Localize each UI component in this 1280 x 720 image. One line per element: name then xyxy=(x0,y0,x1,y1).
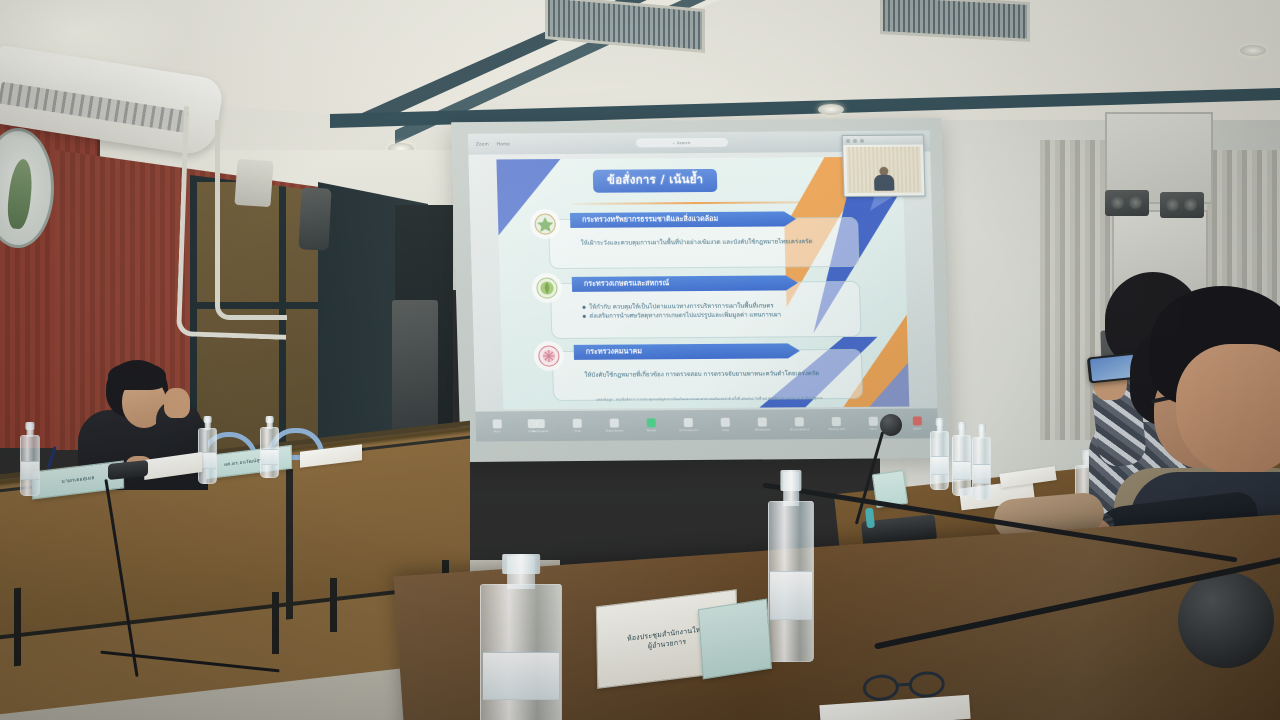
more-icon xyxy=(869,417,878,426)
section-bullet: ให้เฝ้าระวังและควบคุมการเผาในพื้นที่ป่าอ… xyxy=(581,237,813,248)
table-leg-1 xyxy=(14,588,21,667)
end-call-icon xyxy=(912,416,921,425)
zoom-search-placeholder: Search xyxy=(677,141,691,145)
zoom-brand-label: Zoom xyxy=(476,142,489,147)
slide-section-3: กระทรวงคมนาคม ให้บังคับใช้กฎหมายที่เกี่ย… xyxy=(528,343,862,345)
microphone-icon xyxy=(492,419,501,428)
section-bullet-3: ให้บังคับใช้กฎหมายที่เกี่ยวข้อง การตรวจส… xyxy=(584,369,819,380)
conference-room-photo: Zoom Home ⌕ Search View Recording Exit xyxy=(0,0,1280,720)
projection-screen[interactable]: Zoom Home ⌕ Search View Recording Exit xyxy=(468,130,939,441)
ministry-agriculture-emblem xyxy=(532,273,563,303)
ai-companion-icon xyxy=(684,418,693,427)
zoom-video-label: Video xyxy=(528,429,536,433)
zoom-mute-label: Mute xyxy=(494,429,501,433)
pip-titlebar[interactable] xyxy=(843,135,923,145)
water-bottle-4 xyxy=(930,420,949,490)
zoom-leave-button[interactable]: Leave xyxy=(904,416,930,430)
ministry-transport-emblem xyxy=(533,341,564,371)
corner-speaker xyxy=(298,187,331,250)
section-body: ให้เฝ้าระวังและควบคุมการเผาในพื้นที่ป่าอ… xyxy=(581,237,813,248)
video-icon xyxy=(527,419,536,428)
person-fringe xyxy=(108,362,166,390)
participant-video-window[interactable] xyxy=(842,134,926,197)
microphone-head-foreground xyxy=(1178,572,1274,668)
zoom-toolbar-left-group: Mute Video xyxy=(484,419,545,433)
zoom-search-box[interactable]: ⌕ Search xyxy=(636,138,728,148)
pip-speaker-figure xyxy=(873,167,896,191)
chat-icon xyxy=(573,419,582,428)
pip-video-feed xyxy=(846,147,921,193)
zoom-leave-label: Leave xyxy=(913,426,921,430)
wall-speaker-left xyxy=(1105,190,1149,216)
section-heading-label: กระทรวงทรัพยากรธรรมชาติและสิ่งแวดล้อม xyxy=(582,214,718,226)
zoom-whiteboard-label: Whiteboard xyxy=(755,428,771,432)
zoom-chat-label: Chat xyxy=(574,429,580,433)
zoom-apps-button[interactable]: Apps xyxy=(712,418,738,432)
ac-conduit-pipe-2 xyxy=(215,120,287,320)
water-bottle-3 xyxy=(260,418,279,478)
water-bottle-6 xyxy=(972,426,991,500)
zoom-chat-button[interactable]: Chat xyxy=(564,419,590,433)
floor-speaker-stack xyxy=(392,300,438,430)
close-icon[interactable] xyxy=(860,138,864,142)
zoom-ai-label: AI Companion xyxy=(679,428,698,432)
section-heading-chip-2: กระทรวงเกษตรและสหกรณ์ xyxy=(572,275,798,292)
zoom-record-label: Record xyxy=(647,428,656,432)
ceiling-downlight-4 xyxy=(1240,45,1266,56)
zoom-video-button[interactable]: Video xyxy=(519,419,545,433)
section-bullet-2b: ส่งเสริมการนำเศษวัสดุทางการเกษตรไปแปรรูป… xyxy=(589,311,781,321)
microphone-head-mid xyxy=(880,414,902,436)
zoom-more-label: More xyxy=(870,427,877,431)
share-screen-icon xyxy=(610,419,619,428)
section-heading-label-3: กระทรวงคมนาคม xyxy=(586,346,643,357)
section-heading-chip-3: กระทรวงคมนาคม xyxy=(574,343,800,360)
wall-speaker-right xyxy=(1160,192,1204,218)
zoom-share-screen-button[interactable]: Share Screen xyxy=(601,419,627,433)
zoom-share-label: Share Screen xyxy=(606,429,624,433)
info-icon xyxy=(832,417,841,426)
bullet-dot-icon xyxy=(583,306,586,309)
slide-section-2: กระทรวงเกษตรและสหกรณ์ ให้กำกับ ควบคุมให้… xyxy=(526,275,860,277)
apps-icon xyxy=(721,418,730,427)
section-heading-chip: กระทรวงทรัพยากรธรรมชาติและสิ่งแวดล้อม xyxy=(570,211,796,228)
zoom-record-button[interactable]: Record xyxy=(638,418,664,432)
ceiling-downlight-3 xyxy=(818,104,844,115)
section-body-3: ให้บังคับใช้กฎหมายที่เกี่ยวข้อง การตรวจส… xyxy=(584,369,819,380)
zoom-captions-label: Show captions xyxy=(790,427,810,431)
zoom-ai-companion-button[interactable]: AI Companion xyxy=(675,418,701,432)
person-hand xyxy=(164,388,190,418)
water-bottle xyxy=(20,424,40,496)
pen xyxy=(46,446,56,470)
slide-footer-source: แหล่งข้อมูล : สรุปข้อสั่งการ การประชุมกอ… xyxy=(555,396,863,403)
record-icon xyxy=(647,418,656,427)
zoom-home-label[interactable]: Home xyxy=(497,141,510,146)
slide-title-underline xyxy=(572,201,822,204)
section-heading-label-2: กระทรวงเกษตรและสหกรณ์ xyxy=(584,278,670,290)
zoom-application-window[interactable]: Zoom Home ⌕ Search View Recording Exit xyxy=(468,130,939,441)
notes-icon xyxy=(795,417,804,426)
ministry-natural-resources-emblem xyxy=(530,209,561,239)
zoom-apps-label: Apps xyxy=(722,428,729,432)
table-leg-3 xyxy=(330,578,337,632)
water-bottle-foreground-1 xyxy=(768,472,814,662)
zoom-captions-button[interactable]: Show captions xyxy=(786,417,812,431)
zoom-meeting-info-button[interactable]: Meeting info xyxy=(823,417,849,431)
table-leg-2 xyxy=(272,592,279,654)
water-bottle-foreground-2 xyxy=(480,556,562,720)
pip-maximize-icon[interactable] xyxy=(853,138,857,142)
section-bullet-row-2: ส่งเสริมการนำเศษวัสดุทางการเกษตรไปแปรรูป… xyxy=(583,311,781,322)
zoom-mute-button[interactable]: Mute xyxy=(484,419,510,433)
search-icon: ⌕ xyxy=(673,141,675,145)
bullet-dot-icon-2 xyxy=(583,315,586,318)
whiteboard-icon xyxy=(758,418,767,427)
nameplate-foreground-back xyxy=(698,598,772,679)
projector-mount xyxy=(234,159,273,207)
slide-title: ข้อสั่งการ / เน้นย้ำ xyxy=(593,169,718,193)
section-body-2: ให้กำกับ ควบคุมให้เป็นไปตามแนวทางการบริห… xyxy=(582,301,781,321)
nameplate-foreground-text: ห้องประชุมสำนักงานใหญ่ ผู้อำนวยการ xyxy=(627,624,707,655)
zoom-bottom-toolbar[interactable]: Mute Video Participants Chat xyxy=(475,408,938,441)
pip-minimize-icon[interactable] xyxy=(846,139,850,143)
nameplate-left-1-text: นายกเธอสุเมธ xyxy=(61,474,94,486)
water-bottle-5 xyxy=(952,424,971,496)
zoom-info-label: Meeting info xyxy=(828,427,845,431)
foreground-person-face xyxy=(1176,344,1280,476)
zoom-whiteboard-button[interactable]: Whiteboard xyxy=(749,417,775,431)
zoom-toolbar-right-group: Leave xyxy=(904,416,930,430)
